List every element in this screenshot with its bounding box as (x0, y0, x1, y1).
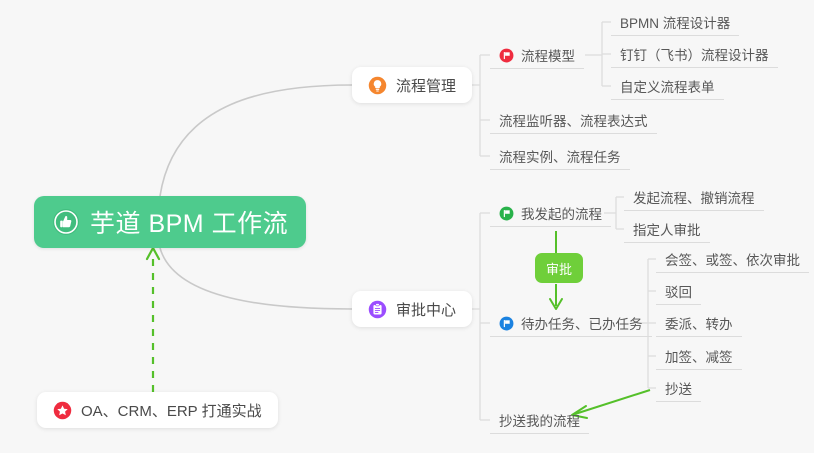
child-node-todo-done-tasks[interactable]: 待办任务、已办任务 (490, 310, 652, 337)
footnote-node-integration[interactable]: OA、CRM、ERP 打通实战 (37, 392, 278, 428)
child-node-process-instance-task[interactable]: 流程实例、流程任务 (490, 143, 630, 170)
child-label-process-model: 流程模型 (521, 45, 575, 65)
child-node-process-model[interactable]: 流程模型 (490, 42, 584, 69)
leaf-label-assignee-approval: 指定人审批 (633, 219, 701, 239)
leaf-node-delegate-transfer[interactable]: 委派、转办 (656, 310, 742, 337)
mindmap-canvas: 芋道 BPM 工作流 流程管理 流程模型 BPMN 流程设计器 钉钉（飞书）流程 (0, 0, 814, 453)
child-label-process-instance-task: 流程实例、流程任务 (499, 146, 621, 166)
approval-arrowhead-icon (550, 299, 562, 309)
leaf-label-dingtalk-feishu-designer: 钉钉（飞书）流程设计器 (620, 44, 769, 64)
leaf-node-dingtalk-feishu-designer[interactable]: 钉钉（飞书）流程设计器 (611, 41, 778, 68)
lightbulb-icon (368, 76, 387, 95)
branch-node-approval-center[interactable]: 审批中心 (352, 291, 472, 327)
flag-icon (499, 316, 514, 331)
clipboard-icon (368, 300, 387, 319)
leaf-label-reject: 驳回 (665, 281, 692, 301)
child-node-cc-to-me-process[interactable]: 抄送我的流程 (490, 407, 589, 434)
leaf-label-custom-process-form: 自定义流程表单 (620, 76, 715, 96)
link-root-to-approval-center (160, 248, 352, 309)
leaf-label-delegate-transfer: 委派、转办 (665, 313, 733, 333)
leaf-label-start-cancel-process: 发起流程、撤销流程 (633, 187, 755, 207)
child-label-process-listener-expression: 流程监听器、流程表达式 (499, 110, 648, 130)
leaf-node-add-remove-sign[interactable]: 加签、减签 (656, 343, 742, 370)
child-label-cc-to-me-process: 抄送我的流程 (499, 410, 580, 430)
child-node-my-initiated-process[interactable]: 我发起的流程 (490, 200, 611, 227)
child-label-my-initiated-process: 我发起的流程 (521, 203, 602, 223)
leaf-label-cc: 抄送 (665, 378, 692, 398)
branch-node-process-management[interactable]: 流程管理 (352, 67, 472, 103)
leaf-label-countersign-orsign-sequential: 会签、或签、依次审批 (665, 249, 800, 269)
integration-arrowhead-icon (147, 248, 159, 259)
leaf-label-add-remove-sign: 加签、减签 (665, 346, 733, 366)
star-icon (53, 401, 72, 420)
child-label-todo-done-tasks: 待办任务、已办任务 (521, 313, 643, 333)
root-node[interactable]: 芋道 BPM 工作流 (34, 196, 306, 248)
approval-badge-label: 审批 (546, 259, 572, 278)
thumbs-up-icon (52, 208, 80, 236)
flag-icon (499, 48, 514, 63)
leaf-node-countersign-orsign-sequential[interactable]: 会签、或签、依次审批 (656, 246, 809, 273)
branch-label-process-management: 流程管理 (396, 75, 456, 96)
branch-label-approval-center: 审批中心 (396, 299, 456, 320)
child-node-process-listener-expression[interactable]: 流程监听器、流程表达式 (490, 107, 657, 134)
leaf-node-assignee-approval[interactable]: 指定人审批 (624, 216, 710, 243)
leaf-node-bpmn-designer[interactable]: BPMN 流程设计器 (611, 9, 739, 36)
flag-icon (499, 206, 514, 221)
leaf-label-bpmn-designer: BPMN 流程设计器 (620, 12, 730, 32)
approval-badge[interactable]: 审批 (535, 253, 583, 283)
footnote-label-integration: OA、CRM、ERP 打通实战 (81, 400, 262, 421)
leaf-node-cc[interactable]: 抄送 (656, 375, 701, 402)
leaf-node-start-cancel-process[interactable]: 发起流程、撤销流程 (624, 184, 764, 211)
leaf-node-custom-process-form[interactable]: 自定义流程表单 (611, 73, 724, 100)
link-root-to-process-management (160, 85, 352, 196)
root-label: 芋道 BPM 工作流 (90, 204, 288, 240)
leaf-node-reject[interactable]: 驳回 (656, 278, 701, 305)
